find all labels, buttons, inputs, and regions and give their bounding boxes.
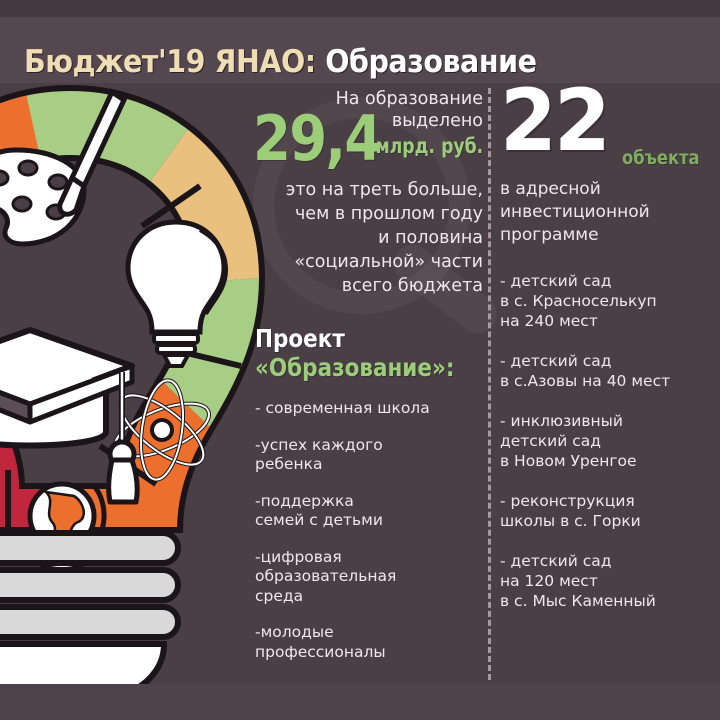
list-item: - детский сад в с. Красноселькуп на 240 … [500,271,714,331]
project-heading: Проект «Образование»: [255,324,483,383]
bulb-screw-base [0,533,178,698]
header-bar: Бюджет'19 ЯНАО: Образование [0,17,720,83]
investment-count-unit: объекта [622,147,700,169]
investment-object-list: - детский сад в с. Красноселькуп на 240 … [500,271,714,611]
list-item: -поддержка семей с детьми [255,492,483,531]
allocation-amount-row: 29,4 млрд. руб. [255,112,483,172]
lightbulb-illustration [0,78,270,698]
investment-description-line: инвестиционной [500,201,714,224]
title-part-budget: Бюджет'19 ЯНАО: [24,44,316,80]
allocation-note-line: «социальной» части [255,250,483,274]
investment-count: 22 [500,78,608,164]
page-title: Бюджет'19 ЯНАО: Образование [24,44,536,80]
project-heading-line-1: Проект [255,324,451,353]
list-item: -успех каждого ребенка [255,436,483,475]
list-item: - детский сад в с.Азовы на 40 мест [500,351,714,391]
list-item: - современная школа [255,399,483,419]
allocation-note-line: это на треть больше, [255,178,483,202]
list-item: -цифровая образовательная среда [255,548,483,607]
list-item: - инклюзивный детский сад в Новом Уренго… [500,411,714,471]
top-band [0,0,720,17]
investment-count-row: 22 объекта [500,92,714,184]
allocation-note-line: чем в прошлом году [255,202,483,226]
investment-description-line: программе [500,224,714,247]
allocation-note-line: и половина [255,226,483,250]
allocation-amount: 29,4 [253,108,381,170]
allocation-note: это на треть больше, чем в прошлом году … [255,178,483,298]
allocation-unit: млрд. руб. [375,134,483,158]
allocation-note-line: всего бюджета [255,274,483,298]
infographic-page: Бюджет'19 ЯНАО: Образование [0,0,720,720]
left-column: На образование выделено 29,4 млрд. руб. … [255,88,483,679]
project-heading-line-2: «Образование»: [255,353,451,383]
right-column: 22 объекта в адресной инвестиционной про… [500,92,714,631]
project-bullet-list: - современная школа -успех каждого ребен… [255,399,483,662]
bottom-band [0,684,720,720]
list-item: - реконструкция школы в с. Горки [500,491,714,531]
column-divider [488,88,491,680]
investment-description: в адресной инвестиционной программе [500,178,714,247]
list-item: -молодые профессионалы [255,623,483,662]
list-item: - детский сад на 120 мест в с. Мыс Камен… [500,551,714,611]
